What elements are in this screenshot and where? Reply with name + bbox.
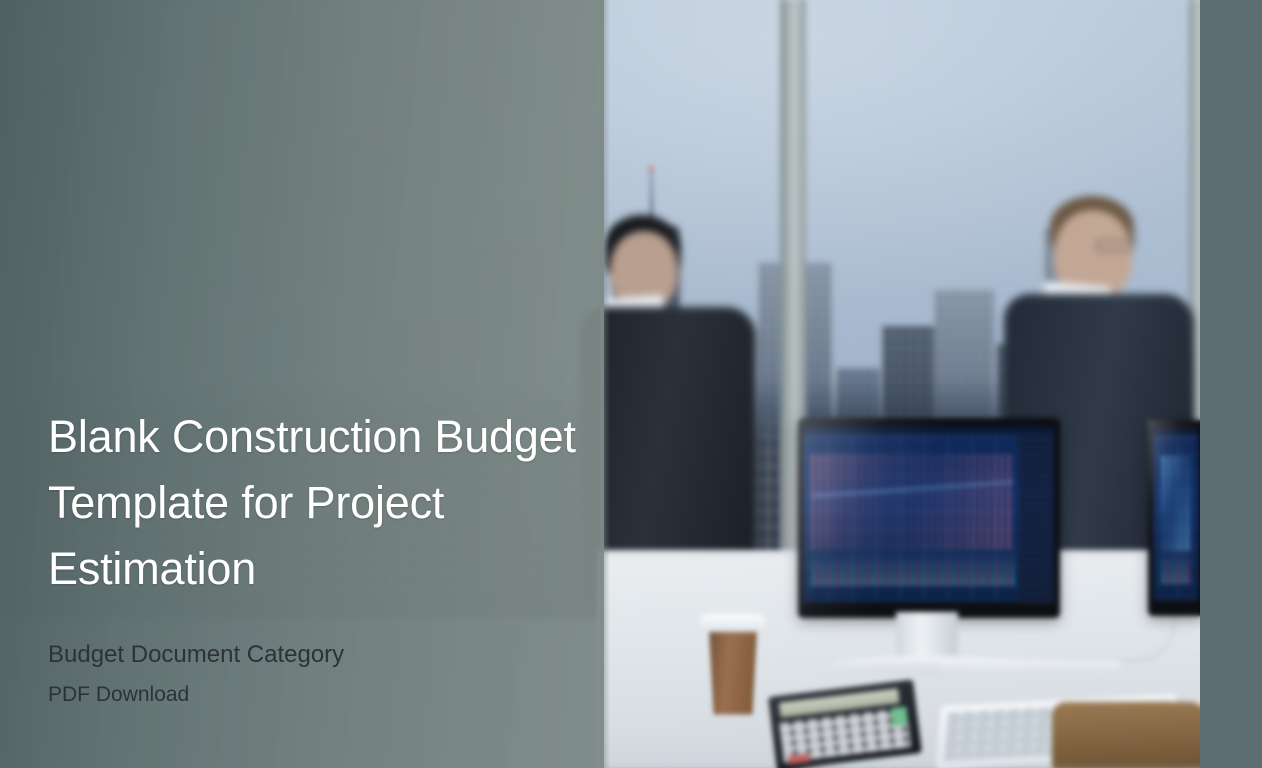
- banner-text-block: Blank Construction Budget Template for P…: [48, 404, 588, 708]
- calculator-key-green: [890, 706, 908, 726]
- coffee-cup: [706, 625, 760, 715]
- monitor-stand-neck: [896, 612, 958, 662]
- download-format-label: PDF Download: [48, 682, 588, 708]
- right-accent-band: [1200, 0, 1262, 768]
- hero-banner: Blank Construction Budget Template for P…: [0, 0, 1262, 768]
- trading-monitor: [798, 418, 1060, 618]
- glasses-icon: [1096, 240, 1134, 252]
- coffee-cup-lid: [700, 614, 766, 632]
- page-title: Blank Construction Budget Template for P…: [48, 404, 578, 602]
- calculator-key-red: [787, 754, 810, 765]
- secondary-monitor: [1148, 420, 1200, 616]
- skyline-spire-tip: [649, 166, 653, 172]
- document-category: Budget Document Category: [48, 640, 588, 670]
- screen-glare: [1148, 420, 1200, 616]
- overlay-panel: Blank Construction Budget Template for P…: [0, 0, 604, 768]
- screen-glare: [798, 418, 1060, 618]
- office-chair: [1052, 702, 1200, 768]
- keyboard-shadow: [940, 660, 1120, 674]
